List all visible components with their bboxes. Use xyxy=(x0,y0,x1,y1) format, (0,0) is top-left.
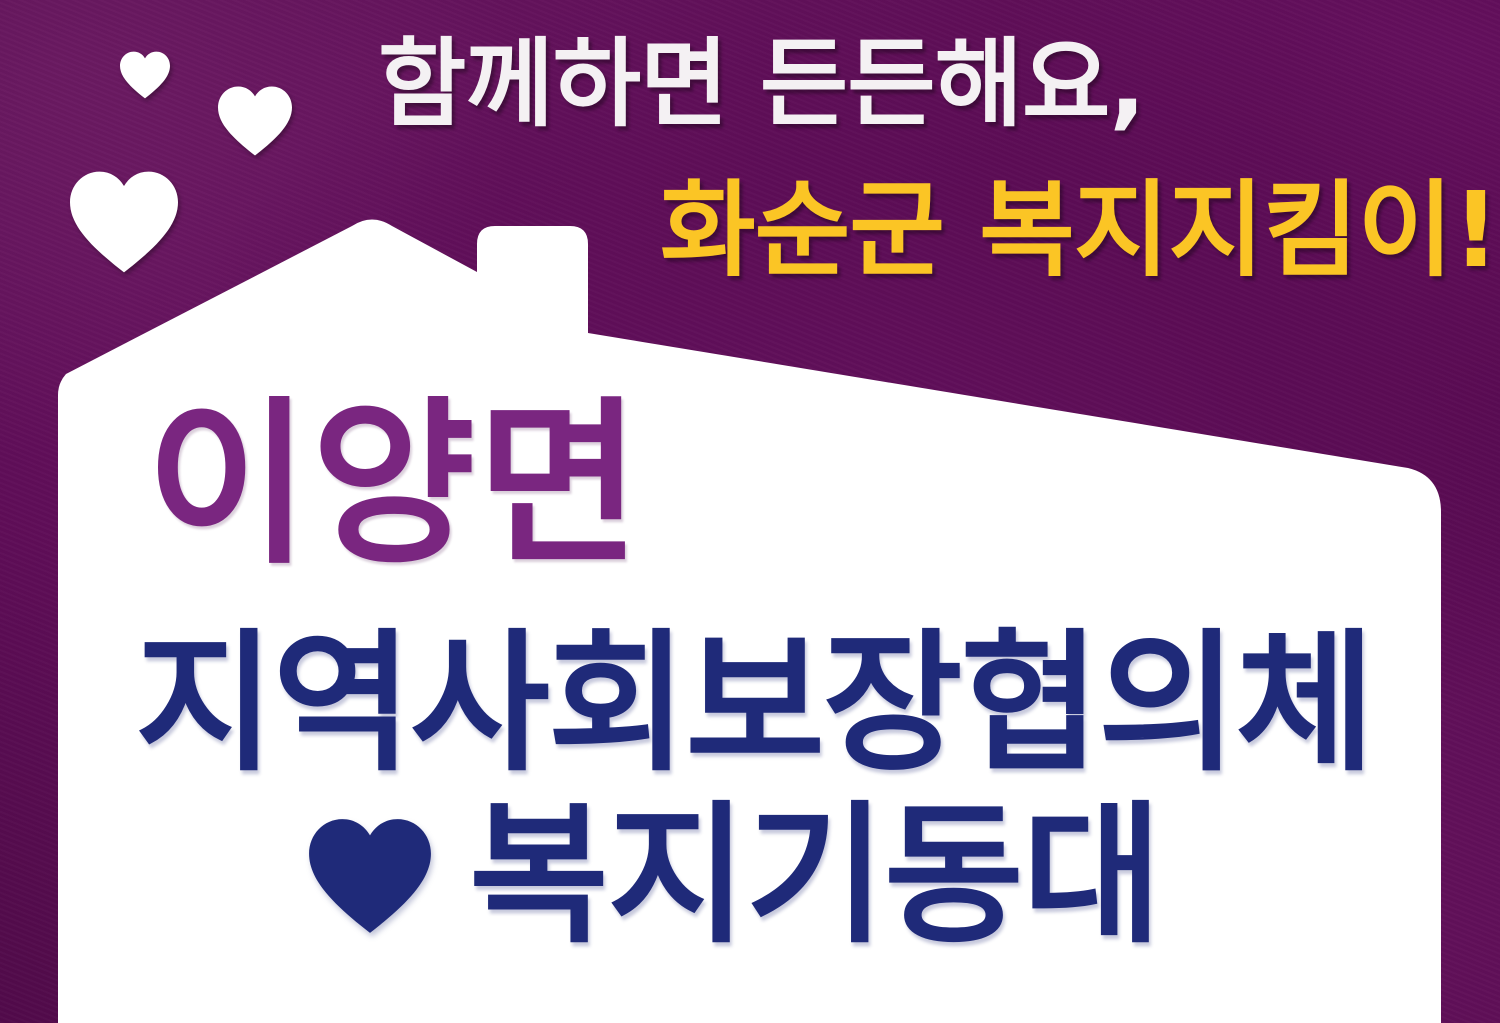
organization-name: 지역사회보장협의체 xyxy=(135,628,1373,780)
tagline-line-2: 화순군 복지지킴이! xyxy=(660,176,1499,285)
heart-icon xyxy=(215,84,295,158)
heart-icon xyxy=(66,168,182,276)
tagline-line-1: 함께하면 든든해요, xyxy=(378,34,1145,135)
heart-icon xyxy=(305,815,435,937)
unit-row: 복지기동대 xyxy=(305,800,1161,952)
town-name: 이양면 xyxy=(146,396,643,574)
unit-name: 복지기동대 xyxy=(469,800,1161,952)
heart-icon xyxy=(118,50,172,100)
banner-sign: 함께하면 든든해요, 화순군 복지지킴이! 이양면 지역사회보장협의체 복지기동… xyxy=(0,0,1500,1023)
